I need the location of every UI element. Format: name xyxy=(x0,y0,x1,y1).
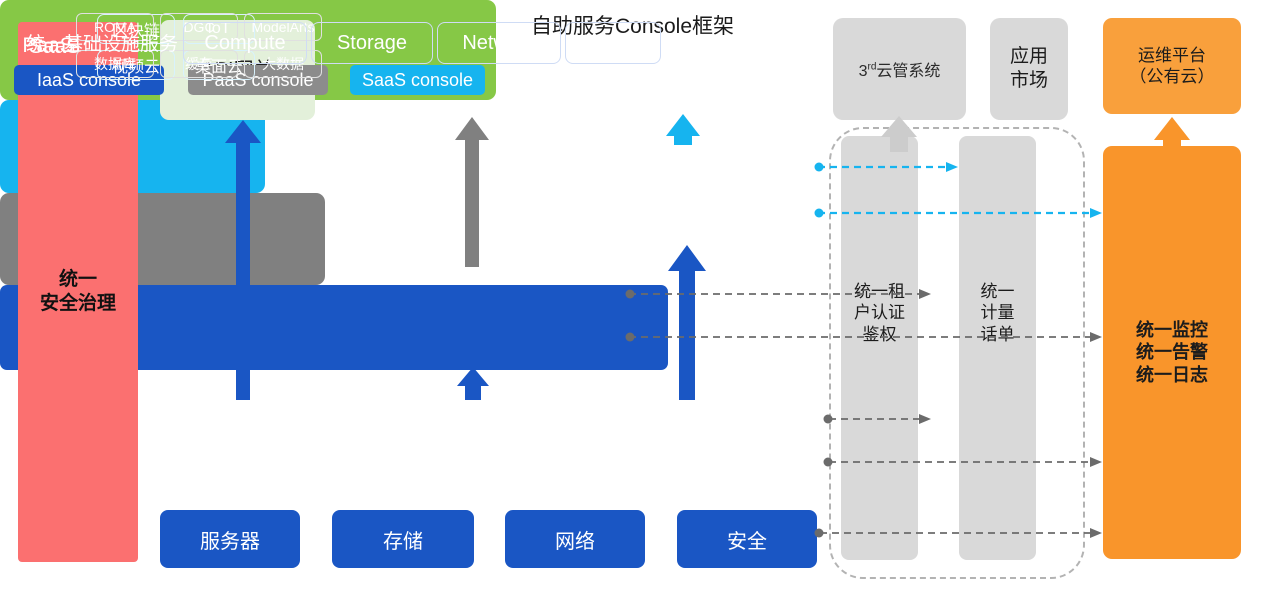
saas-console-chip[interactable]: SaaS console xyxy=(350,65,485,95)
third-party-cloud-mgmt-label: 3rd云管系统 xyxy=(859,57,941,81)
hardware-box-security: 安全 xyxy=(677,510,817,568)
arrow-infra-to-paas xyxy=(457,367,489,400)
hardware-box-network: 网络 xyxy=(505,510,645,568)
infrastructure-services-label: 统一基础设施服务 xyxy=(12,0,192,85)
arrow-opscore-to-opsplatform xyxy=(1154,117,1190,146)
arrow-infra-to-saas xyxy=(668,245,706,400)
infra-chip-network[interactable]: Network xyxy=(437,22,561,64)
infra-chip-network-label: Network xyxy=(462,32,535,55)
hardware-box-server: 服务器 xyxy=(160,510,300,568)
infra-chip-storage[interactable]: Storage xyxy=(311,22,433,64)
third-party-cloud-mgmt-box: 3rd云管系统 xyxy=(833,18,966,120)
security-governance-panel: 统一 安全治理 xyxy=(18,22,138,562)
hardware-box-storage-label: 存储 xyxy=(383,525,423,554)
infra-chip-cce-label: CCE xyxy=(592,32,634,55)
infra-chip-compute-label: Compute xyxy=(204,32,285,55)
unified-tenant-auth-column: 统一租 户认证 鉴权 xyxy=(841,136,918,560)
arrow-saas-to-console xyxy=(666,114,700,145)
infra-chip-storage-label: Storage xyxy=(337,32,407,55)
unified-tenant-auth-label: 统一租 户认证 鉴权 xyxy=(841,281,918,345)
arrow-paas-to-console xyxy=(455,117,489,267)
hardware-box-security-label: 安全 xyxy=(727,525,767,554)
unified-metering-column: 统一 计量 话单 xyxy=(959,136,1036,560)
ops-platform-box: 运维平台 （公有云） xyxy=(1103,18,1241,114)
security-governance-label: 统一 安全治理 xyxy=(40,268,116,316)
unified-metering-label: 统一 计量 话单 xyxy=(959,281,1036,345)
infra-chip-cce[interactable]: CCE xyxy=(565,22,661,64)
ops-core-box: 统一监控 统一告警 统一日志 xyxy=(1103,146,1241,559)
infra-chip-compute[interactable]: Compute xyxy=(183,22,307,64)
app-market-label: 应用 市场 xyxy=(1010,45,1048,93)
hardware-box-server-label: 服务器 xyxy=(200,525,260,554)
ops-core-label: 统一监控 统一告警 统一日志 xyxy=(1136,319,1208,387)
hardware-box-network-label: 网络 xyxy=(555,525,595,554)
saas-console-label: SaaS console xyxy=(362,70,473,91)
architecture-diagram: 统一 安全治理 API网关 自助服务Console框架 IaaS console… xyxy=(0,0,1265,605)
app-market-box: 应用 市场 xyxy=(990,18,1068,120)
hardware-box-storage: 存储 xyxy=(332,510,474,568)
ops-platform-label: 运维平台 （公有云） xyxy=(1130,45,1215,88)
